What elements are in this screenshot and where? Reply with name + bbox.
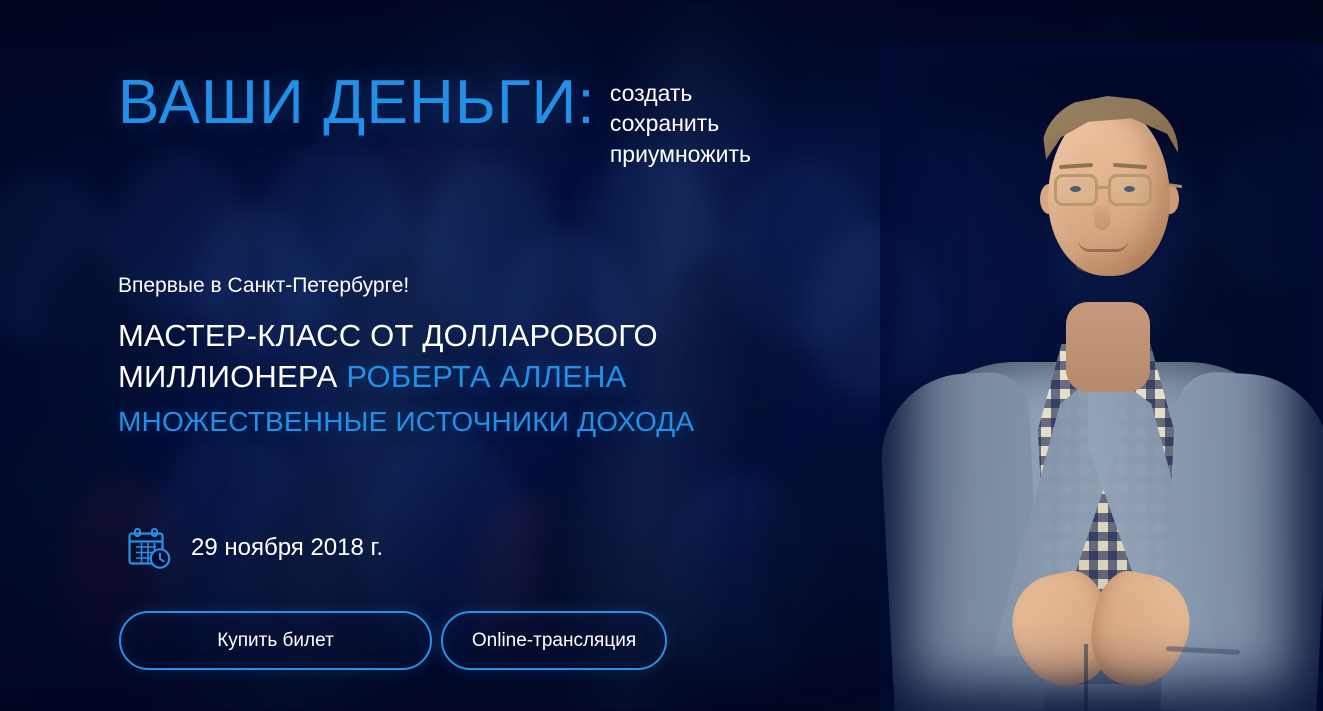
event-title-line-2-prefix: МИЛЛИОНЕРА <box>118 359 346 394</box>
hero-cta-row: Купить билет Online-трансляция <box>119 611 667 670</box>
online-broadcast-button[interactable]: Online-трансляция <box>441 611 667 670</box>
calendar-clock-icon <box>126 525 172 571</box>
event-title-line-3: МНОЖЕСТВЕННЫЕ ИСТОЧНИКИ ДОХОДА <box>118 404 694 441</box>
speaker-photo <box>880 44 1323 711</box>
event-date-text: 29 ноября 2018 г. <box>191 534 383 562</box>
event-title-line-1: МАСТЕР-КЛАСС ОТ ДОЛЛАРОВОГО <box>118 316 694 357</box>
hero-banner: ВАШИ ДЕНЬГИ: создать сохранить приумножи… <box>0 0 1323 711</box>
hero-copy: Впервые в Санкт-Петербурге! МАСТЕР-КЛАСС… <box>118 275 694 441</box>
event-title-line-2: МИЛЛИОНЕРА РОБЕРТА АЛЛЕНА <box>118 357 694 398</box>
headline-title: ВАШИ ДЕНЬГИ: <box>118 72 596 134</box>
event-date-row: 29 ноября 2018 г. <box>126 525 383 571</box>
buy-ticket-button[interactable]: Купить билет <box>119 611 432 670</box>
event-speaker-name: РОБЕРТА АЛЛЕНА <box>346 359 626 394</box>
hero-headline: ВАШИ ДЕНЬГИ: создать сохранить приумножи… <box>118 72 751 169</box>
headline-subtitle-line-2: сохранить <box>610 108 751 138</box>
headline-subtitle-line-1: создать <box>610 78 751 108</box>
headline-subtitle-line-3: приумножить <box>610 139 751 169</box>
headline-subtitle-list: создать сохранить приумножить <box>610 78 751 169</box>
event-kicker: Впервые в Санкт-Петербурге! <box>118 275 694 296</box>
